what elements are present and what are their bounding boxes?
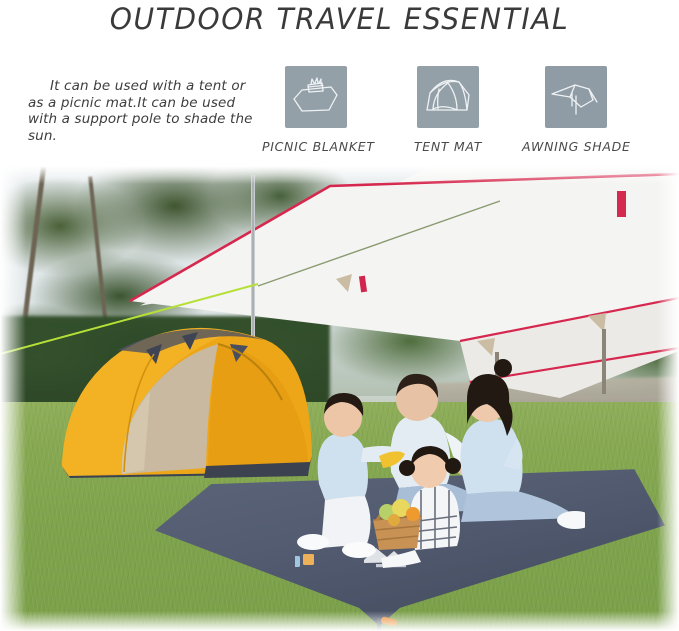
page-title: OUTDOOR TRAVEL ESSENTIAL	[10, 2, 669, 36]
daughter-legs	[381, 550, 421, 568]
product-lifestyle-photo	[0, 166, 679, 631]
awning-shade-icon	[545, 66, 607, 128]
feature-picnic-blanket: PICNIC BLANKET	[262, 66, 370, 154]
daughter-pigtail	[399, 460, 415, 476]
mother	[460, 359, 585, 529]
mat-corner-cord	[380, 616, 397, 627]
picnic-blanket-icon	[285, 66, 347, 128]
fruit-orange	[406, 507, 420, 521]
tent-icon	[417, 66, 479, 128]
product-marketing-image: OUTDOOR TRAVEL ESSENTIAL It can be used …	[0, 0, 679, 631]
mother-hair-bun	[494, 359, 512, 377]
family-group	[295, 344, 585, 574]
fruit-apple	[388, 514, 400, 526]
tent-fly-right-panel	[208, 344, 308, 469]
feature-tent-mat: TENT MAT	[394, 66, 502, 154]
son-shoe	[342, 542, 376, 558]
feature-label-tent-mat: TENT MAT	[394, 139, 502, 154]
photo-scene	[0, 166, 679, 631]
awning-shade-tile	[545, 66, 607, 128]
picnic-blanket-tile	[285, 66, 347, 128]
feature-label-awning-shade: AWNING SHADE	[522, 139, 630, 154]
intro-paragraph: It can be used with a tent or as a picni…	[28, 78, 258, 144]
toy-block	[303, 554, 314, 565]
father-shoe	[297, 534, 329, 550]
son-shirt	[318, 433, 368, 500]
toy-block	[295, 556, 300, 567]
yellow-dome-tent	[58, 306, 318, 481]
daughter-pigtail	[445, 458, 461, 474]
header-section: OUTDOOR TRAVEL ESSENTIAL It can be used …	[0, 0, 679, 166]
tarp-strap	[617, 191, 626, 217]
feature-awning-shade: AWNING SHADE	[522, 66, 630, 154]
feature-label-picnic-blanket: PICNIC BLANKET	[262, 139, 370, 154]
tent-mat-tile	[417, 66, 479, 128]
